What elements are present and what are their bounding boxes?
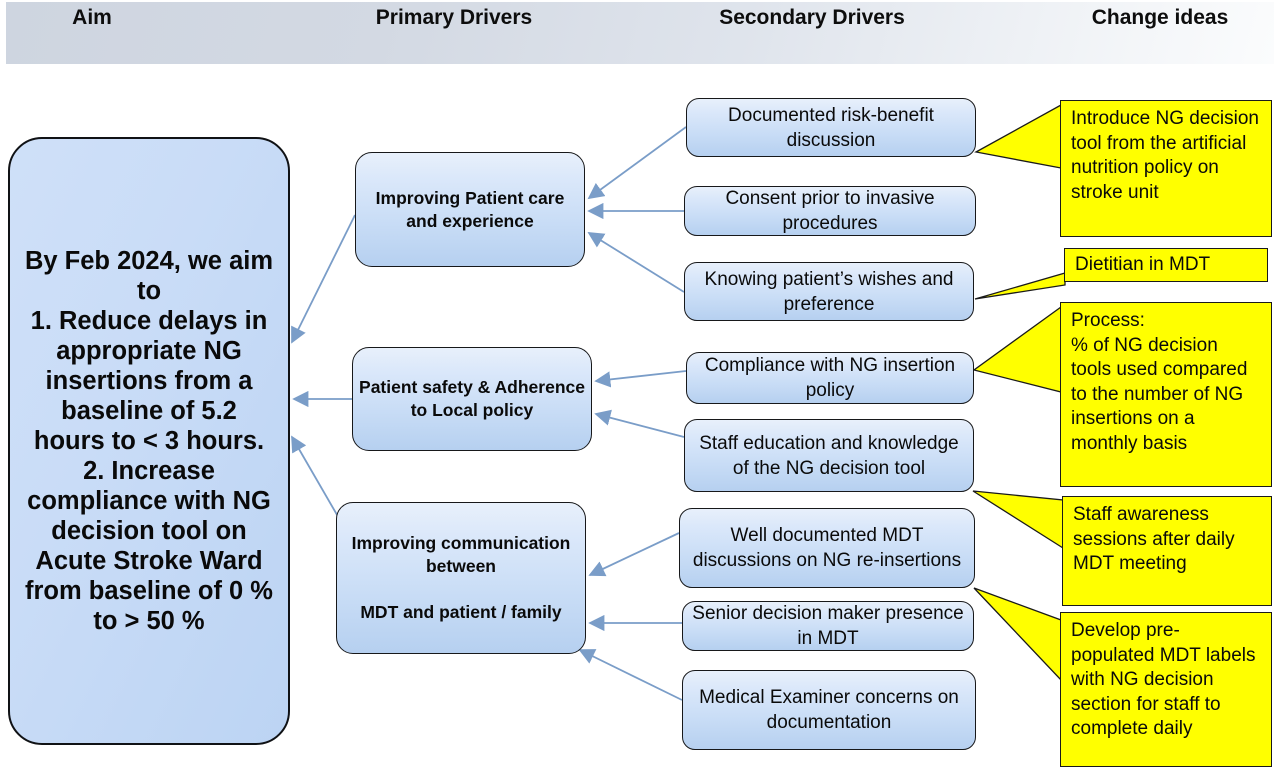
change-idea-label-4: Staff awareness sessions after daily MDT… (1073, 503, 1263, 577)
secondary-driver-box-2: Consent prior to invasive procedures (684, 186, 976, 236)
primary-driver-box-3: Improving communication between MDT and … (336, 502, 586, 654)
connector-pd3-aim (292, 437, 340, 520)
connector-sd8-pd3 (580, 650, 682, 700)
connector-sd5-pd2 (596, 414, 684, 437)
secondary-driver-box-7: Senior decision maker presence in MDT (682, 601, 974, 651)
connector-pd1-aim (292, 215, 355, 342)
secondary-driver-box-8: Medical Examiner concerns on documentati… (682, 670, 976, 750)
secondary-driver-label-4: Compliance with NG insertion policy (687, 353, 973, 403)
change-idea-callout-4: Staff awareness sessions after daily MDT… (1062, 496, 1272, 606)
secondary-driver-box-5: Staff education and knowledge of the NG … (684, 419, 974, 492)
secondary-driver-label-2: Consent prior to invasive procedures (685, 186, 975, 236)
secondary-driver-label-1: Documented risk-benefit discussion (687, 103, 975, 153)
secondary-driver-box-1: Documented risk-benefit discussion (686, 98, 976, 157)
connector-sd3-pd1 (589, 233, 684, 292)
secondary-driver-box-3: Knowing patient’s wishes and preference (684, 262, 974, 321)
aim-text: By Feb 2024, we aim to 1. Reduce delays … (10, 246, 288, 636)
aim-box: By Feb 2024, we aim to 1. Reduce delays … (8, 137, 290, 745)
change-idea-callout-5: Develop pre-populated MDT labels with NG… (1060, 612, 1272, 767)
primary-driver-box-1: Improving Patient care and experience (355, 152, 585, 267)
primary-driver-label-2: Patient safety & Adherence to Local poli… (353, 376, 591, 422)
change-idea-callout-1: Introduce NG decision tool from the arti… (1060, 100, 1272, 237)
change-idea-label-5: Develop pre-populated MDT labels with NG… (1071, 619, 1263, 742)
secondary-driver-box-6: Well documented MDT discussions on NG re… (679, 508, 975, 588)
connector-sd4-pd2 (596, 371, 686, 381)
secondary-driver-label-3: Knowing patient’s wishes and preference (685, 267, 973, 317)
primary-driver-label-1: Improving Patient care and experience (356, 187, 584, 233)
secondary-driver-label-8: Medical Examiner concerns on documentati… (683, 685, 975, 735)
change-idea-label-2: Dietitian in MDT (1075, 253, 1259, 278)
change-idea-callout-2: Dietitian in MDT (1064, 248, 1268, 282)
secondary-driver-label-5: Staff education and knowledge of the NG … (685, 431, 973, 481)
change-idea-callout-3: Process: % of NG decision tools used com… (1060, 302, 1272, 487)
primary-driver-label-3: Improving communication between MDT and … (337, 532, 585, 624)
change-idea-label-1: Introduce NG decision tool from the arti… (1071, 107, 1263, 205)
secondary-driver-label-7: Senior decision maker presence in MDT (683, 601, 973, 651)
driver-diagram: Aim Primary Drivers Secondary Drivers Ch… (0, 0, 1280, 768)
change-idea-label-3: Process: % of NG decision tools used com… (1071, 309, 1263, 456)
primary-driver-box-2: Patient safety & Adherence to Local poli… (352, 347, 592, 451)
connector-sd6-pd3 (590, 533, 679, 575)
connector-sd1-pd1 (589, 127, 686, 198)
secondary-driver-box-4: Compliance with NG insertion policy (686, 352, 974, 404)
secondary-driver-label-6: Well documented MDT discussions on NG re… (680, 523, 974, 573)
